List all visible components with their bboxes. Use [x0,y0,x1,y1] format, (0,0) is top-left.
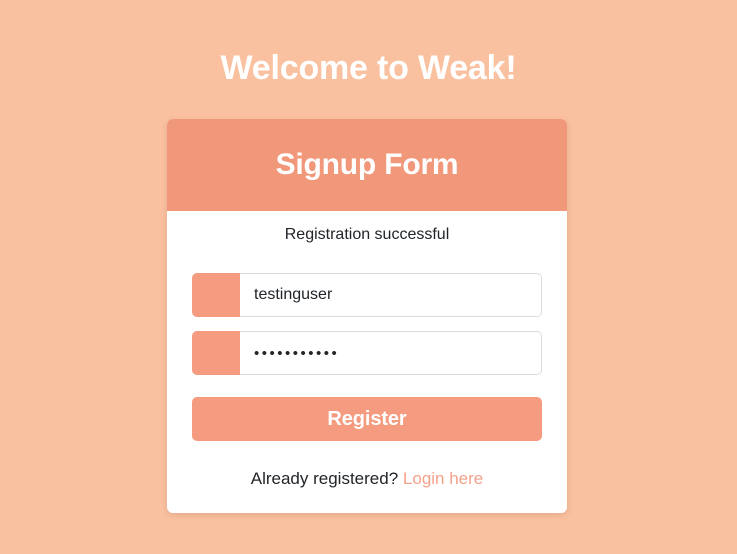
status-message: Registration successful [192,223,542,247]
user-icon [192,273,240,317]
username-input[interactable] [240,273,542,317]
card-body: Registration successful ••••••••••• Regi… [167,211,567,513]
signup-page: Welcome to Weak! Signup Form Registratio… [0,0,737,554]
register-button[interactable]: Register [192,397,542,441]
password-input[interactable]: ••••••••••• [240,331,542,375]
signup-card: Signup Form Registration successful ••••… [167,119,567,513]
page-title: Welcome to Weak! [0,0,737,90]
password-input-group: ••••••••••• [192,331,542,375]
footer-text: Already registered? [251,469,398,488]
card-header-title: Signup Form [276,148,459,182]
lock-icon [192,331,240,375]
login-here-link[interactable]: Login here [403,469,483,488]
card-footer: Already registered? Login here [192,467,542,491]
username-input-group [192,273,542,317]
card-header: Signup Form [167,119,567,211]
